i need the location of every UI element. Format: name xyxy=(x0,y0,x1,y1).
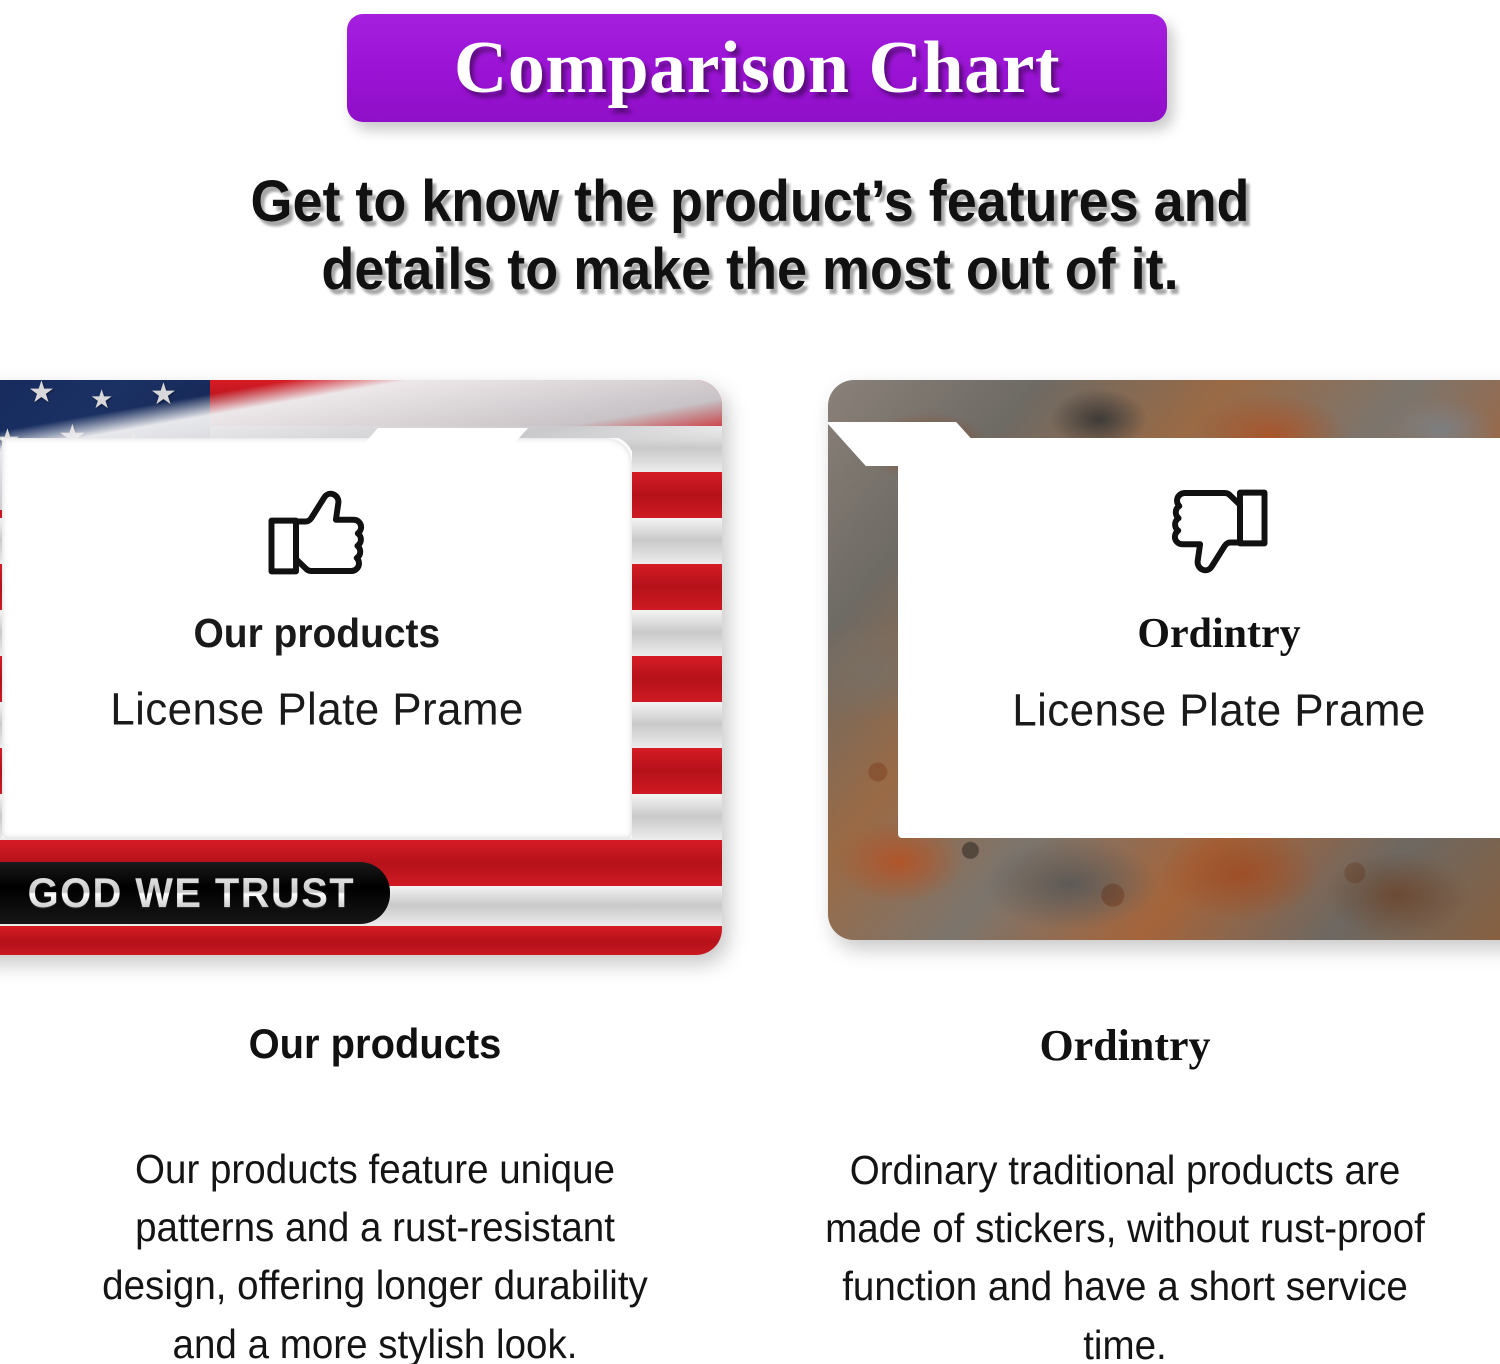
plate-heading-right: Ordintry xyxy=(1137,610,1300,658)
product-frame-usa-flag: ★ ★ ★ ★ ★ ★ ★ ★ ★ ★ xyxy=(0,380,722,955)
product-frame-rusted: Ordintry License Plate Prame xyxy=(828,380,1500,940)
flag-star-icon: ★ xyxy=(90,386,113,412)
badge-label: GOD WE TRUST xyxy=(28,869,355,917)
title-banner: Comparison Chart xyxy=(347,14,1167,122)
column-body-ours: Our products feature unique patterns and… xyxy=(74,1140,676,1364)
plate-subheading-left: License Plate Prame xyxy=(110,684,524,736)
god-we-trust-badge: GOD WE TRUST xyxy=(0,862,390,924)
flag-stripe xyxy=(0,926,722,955)
flag-star-icon: ★ xyxy=(28,380,55,408)
flag-star-icon: ★ xyxy=(150,380,177,410)
thumbs-up-icon xyxy=(261,476,373,588)
subtitle-line-1: Get to know the product’s features and xyxy=(108,168,1391,236)
subtitle-line-2: details to make the most out of it. xyxy=(108,236,1391,304)
comparison-columns: Our products Our products feature unique… xyxy=(0,1020,1500,1364)
thumbs-down-icon xyxy=(1163,476,1275,588)
plate-opening-right: Ordintry License Plate Prame xyxy=(898,438,1500,838)
page-title: Comparison Chart xyxy=(454,31,1060,105)
plate-content-right: Ordintry License Plate Prame xyxy=(898,438,1500,838)
column-heading-ours: Our products xyxy=(249,1020,502,1068)
product-images-row: ★ ★ ★ ★ ★ ★ ★ ★ ★ ★ xyxy=(0,370,1500,960)
comparison-chart-page: Comparison Chart Get to know the product… xyxy=(0,0,1500,1364)
comparison-column-ordinary: Ordintry Ordinary traditional products a… xyxy=(750,1020,1500,1364)
plate-heading-left: Our products xyxy=(194,610,441,657)
plate-subheading-right: License Plate Prame xyxy=(1012,685,1426,737)
column-heading-ordinary: Ordintry xyxy=(1039,1020,1210,1071)
plate-opening-left: Our products License Plate Prame xyxy=(2,438,632,838)
comparison-column-ours: Our products Our products feature unique… xyxy=(0,1020,750,1364)
plate-content-left: Our products License Plate Prame xyxy=(2,438,632,838)
page-subtitle: Get to know the product’s features and d… xyxy=(53,168,1448,305)
column-body-ordinary: Ordinary traditional products are made o… xyxy=(824,1141,1426,1364)
